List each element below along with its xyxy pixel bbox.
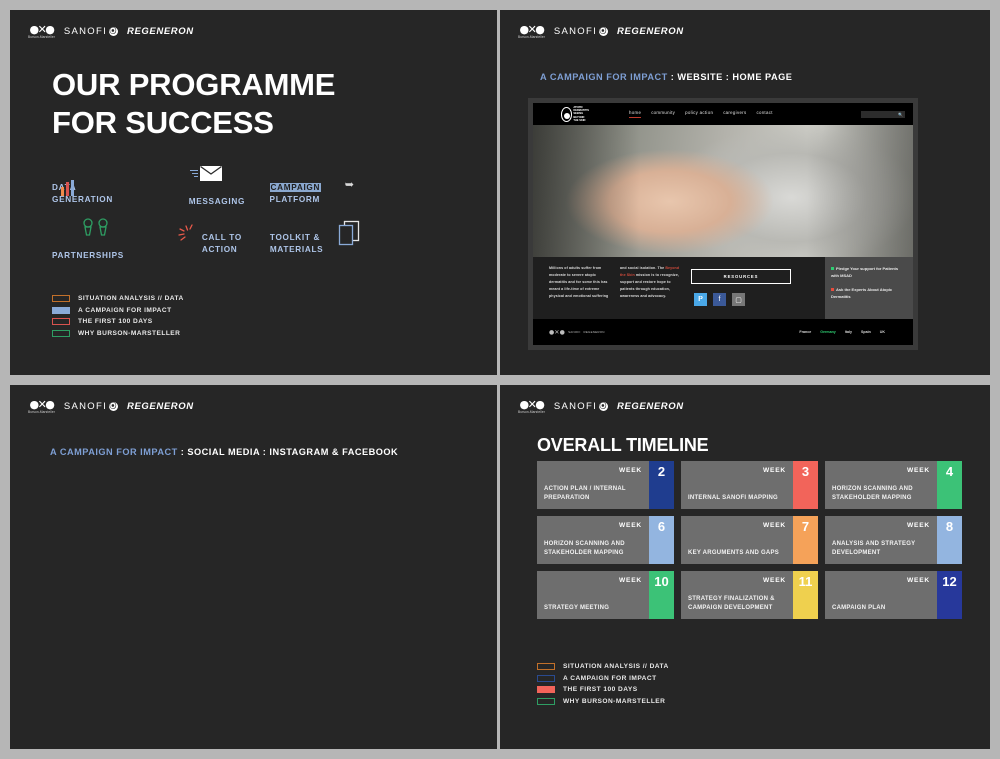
task-description: HORIZON SCANNING AND STAKEHOLDER MAPPING	[544, 540, 642, 559]
brand-logo-bar: ●✕● Burson-Marsteller SANOFI ⦿ REGENERON	[28, 24, 194, 39]
messaging-label: MESSAGING	[189, 196, 245, 208]
burson-marsteller-logo: ●✕● Burson-Marsteller	[518, 24, 545, 39]
bm-sub-label: Burson-Marsteller	[518, 36, 545, 39]
brand-logo-bar: ●✕● Burson-Marsteller SANOFI ⦿ REGENERON	[28, 399, 194, 414]
regeneron-logo: REGENERON	[127, 401, 194, 412]
section-header: A CAMPAIGN FOR IMPACT : WEBSITE : HOME P…	[540, 72, 792, 82]
sanofi-label: SANOFI	[554, 401, 597, 412]
timeline-card[interactable]: WEEK HORIZON SCANNING AND STAKEHOLDER MA…	[825, 461, 962, 509]
section-header-accent: A CAMPAIGN FOR IMPACT	[50, 447, 178, 457]
week-label: WEEK	[544, 522, 642, 529]
site-logo[interactable]: ATOPICDERMATITISSEEINGBEYONDTHE SKIN	[561, 106, 589, 123]
people-icon	[82, 218, 109, 236]
legend-item: SITUATION ANALYSIS // DATA	[52, 295, 184, 302]
country-link-germany[interactable]: Germany	[820, 330, 836, 334]
page-title: OUR PROGRAMME FOR SUCCESS	[52, 66, 335, 142]
body-column-2: and social isolation. The Beyond the Ski…	[620, 265, 682, 313]
section-header: A CAMPAIGN FOR IMPACT : SOCIAL MEDIA : I…	[50, 447, 398, 457]
sanofi-swirl-icon: ⦿	[599, 402, 608, 411]
week-number: 7	[793, 516, 818, 564]
slide-website-home-page[interactable]: ●✕● Burson-Marsteller SANOFI ⦿ REGENERON…	[500, 10, 990, 375]
nav-link-policy-action[interactable]: policy action	[685, 110, 713, 118]
legend-label: SITUATION ANALYSIS // DATA	[563, 663, 669, 670]
sanofi-label: SANOFI	[64, 401, 107, 412]
nav-link-community[interactable]: community	[651, 110, 675, 118]
site-nav-links[interactable]: home community policy action caregivers …	[629, 110, 773, 118]
burson-marsteller-logo: ●✕● Burson-Marsteller	[28, 24, 55, 39]
sidebar-experts-text: Ask the Experts About Atopic Dermatitis	[831, 287, 892, 299]
week-number: 2	[649, 461, 674, 509]
footer-logos: ●✕● SANOFI REGENERON	[549, 329, 605, 336]
footer-country-links[interactable]: France Germany Italy Spain UK	[799, 330, 885, 334]
legend-swatch	[52, 318, 70, 325]
campaign-platform-label: CAMPAIGN PLATFORM	[270, 182, 322, 206]
sanofi-logo: SANOFI ⦿	[554, 26, 608, 37]
slide-overall-timeline[interactable]: ●✕● Burson-Marsteller SANOFI ⦿ REGENERON…	[500, 385, 990, 749]
bm-mark-icon: ●✕●	[29, 399, 53, 410]
week-label: WEEK	[544, 467, 642, 474]
website-body: Millions of adults suffer from moderate …	[533, 257, 913, 319]
section-header-main: : SOCIAL MEDIA : INSTAGRAM & FACEBOOK	[178, 447, 398, 457]
bm-mark-icon: ●✕●	[519, 24, 543, 35]
bm-mark-icon: ●✕●	[29, 24, 53, 35]
week-label: WEEK	[688, 522, 786, 529]
site-logo-icon	[561, 107, 572, 122]
cursor-icon: ➥	[345, 178, 354, 191]
timeline-card[interactable]: WEEK STRATEGY FINALIZATION & CAMPAIGN DE…	[681, 571, 818, 619]
week-number: 6	[649, 516, 674, 564]
red-bullet-icon	[831, 288, 834, 291]
legend-label: WHY BURSON-MARSTELLER	[563, 698, 665, 705]
legend-item: THE FIRST 100 DAYS	[52, 318, 184, 325]
facebook-icon[interactable]: f	[713, 293, 726, 306]
site-search-input[interactable]: 🔍	[861, 111, 905, 118]
website-body-left: Millions of adults suffer from moderate …	[533, 257, 825, 319]
website-mockup-frame: ATOPICDERMATITISSEEINGBEYONDTHE SKIN hom…	[528, 98, 918, 350]
legend-swatch	[537, 686, 555, 693]
envelope-glyph	[200, 166, 222, 181]
country-link-uk[interactable]: UK	[880, 330, 885, 334]
legend-label: SITUATION ANALYSIS // DATA	[78, 295, 184, 302]
week-number: 10	[649, 571, 674, 619]
task-description: STRATEGY FINALIZATION & CAMPAIGN DEVELOP…	[688, 595, 786, 614]
slide4-legend: SITUATION ANALYSIS // DATA A CAMPAIGN FO…	[537, 663, 669, 709]
timeline-card[interactable]: WEEK KEY ARGUMENTS AND GAPS 7	[681, 516, 818, 564]
timeline-card[interactable]: WEEK STRATEGY MEETING 10	[537, 571, 674, 619]
website-cta-column: RESOURCES 𝐏 f ▢	[691, 265, 791, 313]
envelope-icon	[190, 166, 222, 181]
website-mockup[interactable]: ATOPICDERMATITISSEEINGBEYONDTHE SKIN hom…	[533, 103, 913, 345]
social-buttons[interactable]: 𝐏 f ▢	[691, 293, 791, 306]
footer-sanofi-label: SANOFI	[568, 330, 580, 334]
toolkit-materials-label: TOOLKIT & MATERIALS	[270, 232, 323, 256]
bm-sub-label: Burson-Marsteller	[28, 36, 55, 39]
legend-item: THE FIRST 100 DAYS	[537, 686, 669, 693]
bm-sub-label: Burson-Marsteller	[28, 411, 55, 414]
search-icon[interactable]: 🔍	[898, 112, 903, 117]
legend-item: A CAMPAIGN FOR IMPACT	[52, 307, 184, 314]
sanofi-swirl-icon: ⦿	[109, 27, 118, 36]
week-label: WEEK	[832, 577, 930, 584]
country-link-france[interactable]: France	[799, 330, 811, 334]
week-number: 4	[937, 461, 962, 509]
sanofi-label: SANOFI	[64, 26, 107, 37]
legend-swatch	[52, 307, 70, 314]
slide-our-programme[interactable]: ●✕● Burson-Marsteller SANOFI ⦿ REGENERON…	[10, 10, 497, 375]
week-label: WEEK	[832, 522, 930, 529]
week-number: 11	[793, 571, 818, 619]
task-description: KEY ARGUMENTS AND GAPS	[688, 549, 786, 559]
slide1-legend: SITUATION ANALYSIS // DATA A CAMPAIGN FO…	[52, 295, 184, 341]
hero-image	[533, 125, 913, 257]
bm-sub-label: Burson-Marsteller	[518, 411, 545, 414]
burson-marsteller-logo: ●✕● Burson-Marsteller	[518, 399, 545, 414]
bar-chart-icon	[61, 180, 75, 196]
legend-swatch	[537, 675, 555, 682]
programme-item-campaign-platform[interactable]: CAMPAIGN PLATFORM ➥	[270, 168, 372, 220]
documents-icon	[338, 220, 360, 251]
sidebar-pledge-text: Pledge Your support for Patients with MS…	[831, 266, 898, 278]
website-footer: ●✕● SANOFI REGENERON France Germany Ital…	[533, 319, 913, 345]
slide-deck-grid: ●✕● Burson-Marsteller SANOFI ⦿ REGENERON…	[0, 0, 1000, 759]
bm-mark-icon: ●✕●	[519, 399, 543, 410]
brand-logo-bar: ●✕● Burson-Marsteller SANOFI ⦿ REGENERON	[518, 399, 684, 414]
body-column-1: Millions of adults suffer from moderate …	[549, 265, 611, 313]
legend-label: A CAMPAIGN FOR IMPACT	[563, 675, 657, 682]
page-title-line2: FOR SUCCESS	[52, 104, 335, 142]
page-title: OVERALL TIMELINE	[537, 435, 708, 456]
programme-item-toolkit-materials[interactable]: TOOLKIT & MATERIALS	[270, 220, 372, 268]
burson-marsteller-logo: ●✕● Burson-Marsteller	[28, 399, 55, 414]
legend-item: WHY BURSON-MARSTELLER	[52, 330, 184, 337]
nav-link-contact[interactable]: contact	[756, 110, 772, 118]
nav-link-home[interactable]: home	[629, 110, 641, 118]
task-description: STRATEGY MEETING	[544, 604, 642, 614]
week-label: WEEK	[832, 467, 930, 474]
week-label: WEEK	[544, 577, 642, 584]
sanofi-logo: SANOFI ⦿	[64, 401, 118, 412]
programme-icon-grid: DATA GENERATION	[52, 168, 372, 268]
sanofi-logo: SANOFI ⦿	[554, 401, 608, 412]
website-sidebar[interactable]: Pledge Your support for Patients with MS…	[825, 257, 913, 319]
slide-social-media[interactable]: ●✕● Burson-Marsteller SANOFI ⦿ REGENERON…	[10, 385, 497, 749]
section-header-main: : WEBSITE : HOME PAGE	[668, 72, 793, 82]
website-nav[interactable]: ATOPICDERMATITISSEEINGBEYONDTHE SKIN hom…	[533, 103, 913, 125]
regeneron-logo: REGENERON	[617, 401, 684, 412]
timeline-grid: WEEK ACTION PLAN / INTERNAL PREPARATION …	[537, 461, 962, 619]
sidebar-experts-item[interactable]: Ask the Experts About Atopic Dermatitis	[831, 286, 907, 300]
body-text-2: and social isolation. The Beyond the Ski…	[620, 265, 682, 300]
legend-swatch	[537, 663, 555, 670]
week-number: 12	[937, 571, 962, 619]
twitter-icon[interactable]: 𝐏	[694, 293, 707, 306]
week-label: WEEK	[688, 467, 786, 474]
sidebar-pledge-item[interactable]: Pledge Your support for Patients with MS…	[831, 265, 907, 279]
page-title-line1: OUR PROGRAMME	[52, 66, 335, 104]
timeline-card[interactable]: WEEK INTERNAL SANOFI MAPPING 3	[681, 461, 818, 509]
programme-item-data-generation[interactable]: DATA GENERATION	[52, 168, 164, 220]
week-label: WEEK	[688, 577, 786, 584]
programme-item-partnerships[interactable]: PARTNERSHIPS	[52, 220, 164, 268]
country-link-spain[interactable]: Spain	[861, 330, 871, 334]
regeneron-logo: REGENERON	[127, 26, 194, 37]
brand-logo-bar: ●✕● Burson-Marsteller SANOFI ⦿ REGENERON	[518, 24, 684, 39]
legend-label: WHY BURSON-MARSTELLER	[78, 330, 180, 337]
legend-swatch	[537, 698, 555, 705]
burst-icon	[178, 224, 196, 247]
country-link-italy[interactable]: Italy	[845, 330, 852, 334]
week-number: 3	[793, 461, 818, 509]
instagram-icon[interactable]: ▢	[732, 293, 745, 306]
task-description: CAMPAIGN PLAN	[832, 604, 930, 614]
legend-item: WHY BURSON-MARSTELLER	[537, 698, 669, 705]
resources-button[interactable]: RESOURCES	[691, 269, 791, 284]
timeline-card[interactable]: WEEK ANALYSIS AND STRATEGY DEVELOPMENT 8	[825, 516, 962, 564]
site-logo-text: ATOPICDERMATITISSEEINGBEYONDTHE SKIN	[573, 106, 589, 122]
legend-label: THE FIRST 100 DAYS	[563, 686, 638, 693]
partnerships-label: PARTNERSHIPS	[52, 250, 124, 262]
sanofi-swirl-icon: ⦿	[109, 402, 118, 411]
legend-swatch	[52, 295, 70, 302]
legend-label: THE FIRST 100 DAYS	[78, 318, 153, 325]
task-description: ANALYSIS AND STRATEGY DEVELOPMENT	[832, 540, 930, 559]
programme-item-call-to-action[interactable]: CALL TO ACTION	[164, 220, 270, 268]
section-header-accent: A CAMPAIGN FOR IMPACT	[540, 72, 668, 82]
footer-bm-icon: ●✕●	[549, 329, 565, 336]
task-description: HORIZON SCANNING AND STAKEHOLDER MAPPING	[832, 485, 930, 504]
nav-link-caregivers[interactable]: caregivers	[723, 110, 746, 118]
task-description: INTERNAL SANOFI MAPPING	[688, 494, 786, 504]
sanofi-logo: SANOFI ⦿	[64, 26, 118, 37]
call-to-action-label: CALL TO ACTION	[202, 232, 242, 256]
timeline-card[interactable]: WEEK CAMPAIGN PLAN 12	[825, 571, 962, 619]
sanofi-label: SANOFI	[554, 26, 597, 37]
legend-swatch	[52, 330, 70, 337]
legend-item: A CAMPAIGN FOR IMPACT	[537, 675, 669, 682]
footer-regeneron-label: REGENERON	[583, 330, 604, 334]
legend-item: SITUATION ANALYSIS // DATA	[537, 663, 669, 670]
legend-label: A CAMPAIGN FOR IMPACT	[78, 307, 172, 314]
programme-item-messaging[interactable]: MESSAGING	[164, 168, 269, 220]
body-text-1: Millions of adults suffer from moderate …	[549, 265, 611, 300]
task-description: ACTION PLAN / INTERNAL PREPARATION	[544, 485, 642, 504]
timeline-card[interactable]: WEEK ACTION PLAN / INTERNAL PREPARATION …	[537, 461, 674, 509]
sanofi-swirl-icon: ⦿	[599, 27, 608, 36]
week-number: 8	[937, 516, 962, 564]
green-bullet-icon	[831, 267, 834, 270]
regeneron-logo: REGENERON	[617, 26, 684, 37]
timeline-card[interactable]: WEEK HORIZON SCANNING AND STAKEHOLDER MA…	[537, 516, 674, 564]
